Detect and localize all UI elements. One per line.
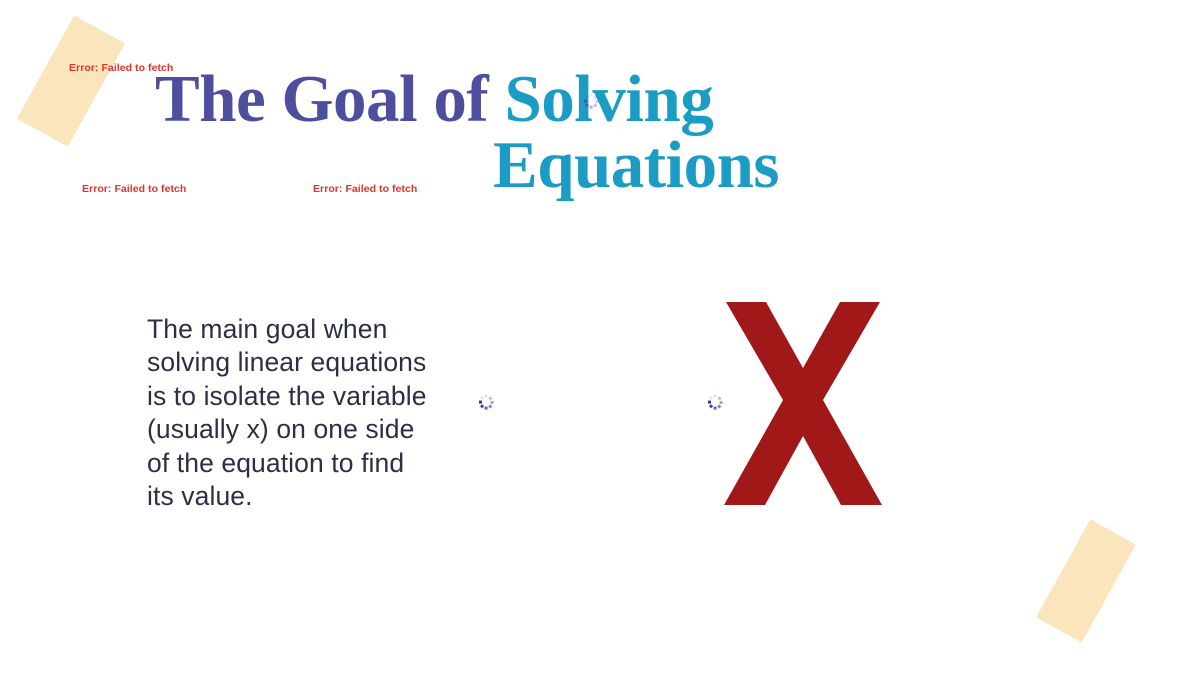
tape-strip-top-left	[17, 15, 125, 146]
error-message: Error: Failed to fetch	[82, 183, 186, 195]
body-paragraph: The main goal when solving linear equati…	[147, 313, 437, 515]
title-text-accent: Solving	[504, 62, 713, 136]
error-message: Error: Failed to fetch	[69, 62, 173, 74]
x-mark-icon	[722, 296, 884, 511]
tape-strip-bottom-right	[1036, 519, 1136, 642]
title-line-1: The Goal of Solving	[155, 66, 815, 132]
loading-spinner-icon	[707, 394, 723, 410]
loading-spinner-icon	[478, 394, 494, 410]
title-line-2: Equations	[155, 132, 815, 198]
page-title: The Goal of Solving Equations	[155, 66, 815, 198]
title-text-primary: The Goal of	[155, 62, 504, 136]
error-message: Error: Failed to fetch	[313, 183, 417, 195]
loading-spinner-icon	[583, 93, 599, 109]
slide-canvas: The Goal of Solving Equations The main g…	[0, 0, 1200, 675]
